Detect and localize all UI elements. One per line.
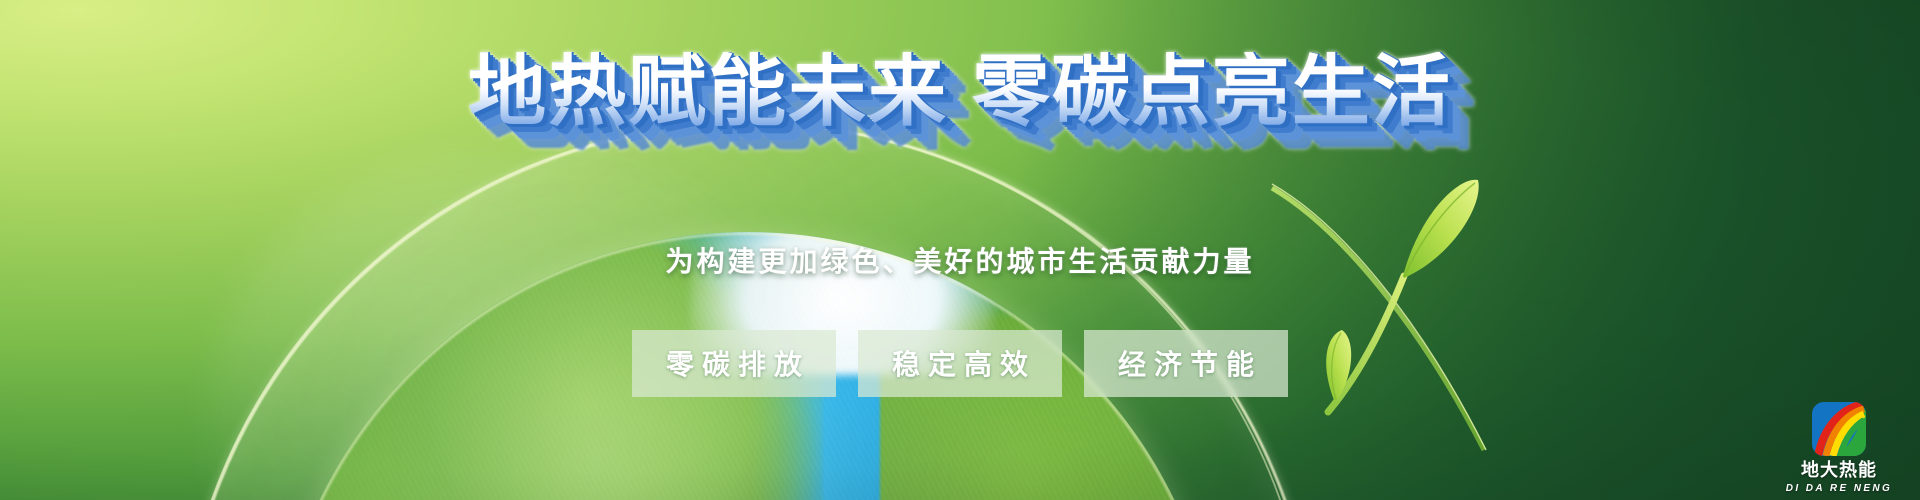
hero-banner: 地热赋能未来 零碳点亮生活 为构建更加绿色、美好的城市生活贡献力量 零碳排放 稳…: [0, 0, 1920, 500]
logo-name-cn: 地大热能: [1801, 461, 1877, 479]
brand-logo[interactable]: 地大热能 DI DA RE NENG: [1780, 402, 1898, 494]
page-title: 地热赋能未来 零碳点亮生活: [0, 52, 1920, 130]
status-badge[interactable]: 经济节能: [1084, 330, 1288, 397]
status-badge[interactable]: 零碳排放: [632, 330, 836, 397]
page-subtitle: 为构建更加绿色、美好的城市生活贡献力量: [0, 240, 1920, 280]
status-badge[interactable]: 稳定高效: [858, 330, 1062, 397]
sprout-icon: [1270, 150, 1590, 450]
rainbow-swoosh-logo-icon: [1812, 402, 1866, 456]
logo-name-en: DI DA RE NENG: [1786, 484, 1892, 494]
feature-badge-list: 零碳排放 稳定高效 经济节能: [0, 330, 1920, 397]
plant-sprout-graphic: [1270, 150, 1590, 450]
